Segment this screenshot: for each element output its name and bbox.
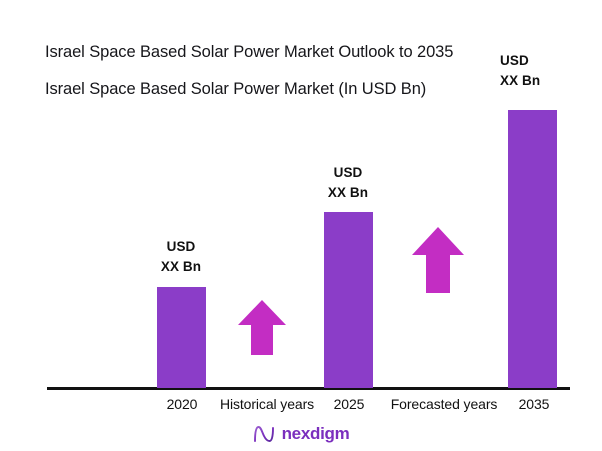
bar-label-2020-amount: XX Bn: [141, 257, 221, 277]
growth-up-arrow-icon-forecasted: [412, 227, 464, 293]
chart-container: Israel Space Based Solar Power Market Ou…: [0, 0, 602, 451]
plot-area: USD XX Bn USD XX Bn USD XX Bn 2020 Histo…: [0, 0, 602, 451]
bar-label-2020-unit: USD: [141, 237, 221, 257]
bar-2025: [324, 212, 373, 388]
bar-label-2025-amount: XX Bn: [308, 183, 388, 203]
bar-label-2035-amount: XX Bn: [500, 71, 590, 91]
x-axis-label-2025: 2025: [309, 396, 389, 412]
bar-2035: [508, 110, 557, 388]
bar-label-2025-unit: USD: [308, 163, 388, 183]
bar-label-2035: USD XX Bn: [500, 51, 590, 91]
bar-label-2035-unit: USD: [500, 51, 590, 71]
brand-logo: nexdigm: [0, 424, 602, 444]
growth-up-arrow-icon-historical: [238, 300, 286, 355]
x-axis-label-2020: 2020: [142, 396, 222, 412]
bar-label-2025: USD XX Bn: [308, 163, 388, 203]
x-axis-label-historical-years: Historical years: [212, 396, 322, 412]
x-axis-label-forecasted-years: Forecasted years: [381, 396, 507, 412]
brand-name: nexdigm: [282, 424, 350, 444]
nexdigm-wave-mark-icon: [253, 424, 275, 444]
bar-label-2020: USD XX Bn: [141, 237, 221, 277]
bar-2020: [157, 287, 206, 388]
x-axis-label-2035: 2035: [494, 396, 574, 412]
x-axis-line: [47, 387, 570, 390]
